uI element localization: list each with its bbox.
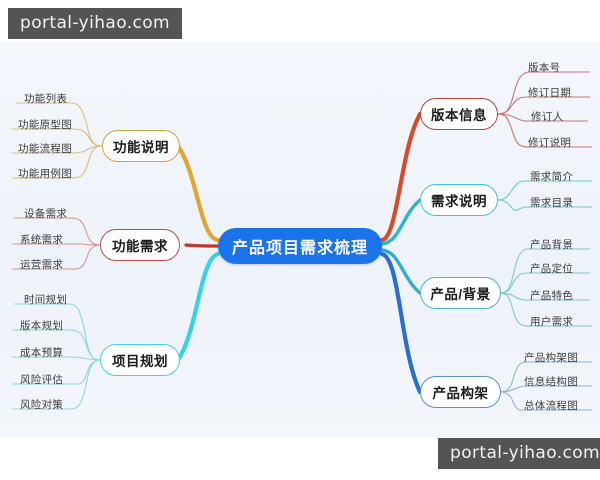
leaf-function-requirement-2[interactable]: 系统需求 xyxy=(20,232,63,247)
leaf-product-background-1[interactable]: 产品背景 xyxy=(530,237,573,252)
leaf-function-description-2[interactable]: 功能原型图 xyxy=(18,117,72,132)
leaf-version-info-4[interactable]: 修订说明 xyxy=(528,135,571,150)
leaf-function-description-1[interactable]: 功能列表 xyxy=(24,91,67,106)
root-node[interactable]: 产品项目需求梳理 xyxy=(218,228,382,264)
mindmap-screenshot: 产品项目需求梳理 版本信息 需求说明 产品/背景 产品构架 功能说明 功能需求 … xyxy=(0,0,600,480)
branch-node-requirement-desc[interactable]: 需求说明 xyxy=(420,184,498,216)
leaf-version-info-3[interactable]: 修订人 xyxy=(531,109,563,124)
leaf-product-architecture-2[interactable]: 信息结构图 xyxy=(524,374,578,389)
leaf-product-background-3[interactable]: 产品特色 xyxy=(530,288,573,303)
leaf-requirement-desc-1[interactable]: 需求简介 xyxy=(530,169,573,184)
leaf-function-requirement-3[interactable]: 运营需求 xyxy=(20,257,63,272)
leaf-project-plan-5[interactable]: 风险对策 xyxy=(20,397,63,412)
leaf-requirement-desc-2[interactable]: 需求目录 xyxy=(530,195,573,210)
branch-node-project-plan[interactable]: 项目规划 xyxy=(100,344,180,376)
leaf-project-plan-2[interactable]: 版本规划 xyxy=(20,318,63,333)
leaf-project-plan-4[interactable]: 风险评估 xyxy=(20,372,63,387)
leaf-function-description-4[interactable]: 功能用例图 xyxy=(18,166,72,181)
leaf-project-plan-3[interactable]: 成本预算 xyxy=(20,345,63,360)
leaf-version-info-2[interactable]: 修订日期 xyxy=(528,85,571,100)
branch-node-function-description[interactable]: 功能说明 xyxy=(102,130,180,162)
branch-node-function-requirement[interactable]: 功能需求 xyxy=(100,229,180,261)
branch-node-product-background[interactable]: 产品/背景 xyxy=(420,277,501,309)
watermark-bottom-right: portal-yihao.com xyxy=(438,438,600,469)
leaf-product-background-4[interactable]: 用户需求 xyxy=(530,314,573,329)
leaf-project-plan-1[interactable]: 时间规划 xyxy=(24,292,67,307)
leaf-version-info-1[interactable]: 版本号 xyxy=(528,60,560,75)
leaf-product-architecture-3[interactable]: 总体流程图 xyxy=(524,398,578,413)
leaf-function-description-3[interactable]: 功能流程图 xyxy=(18,141,72,156)
watermark-top-left: portal-yihao.com xyxy=(8,8,182,39)
branch-node-version-info[interactable]: 版本信息 xyxy=(420,98,498,130)
leaf-product-background-2[interactable]: 产品定位 xyxy=(530,261,573,276)
branch-node-product-architecture[interactable]: 产品构架 xyxy=(420,376,501,408)
leaf-function-requirement-1[interactable]: 设备需求 xyxy=(24,206,67,221)
leaf-product-architecture-1[interactable]: 产品构架图 xyxy=(524,350,578,365)
